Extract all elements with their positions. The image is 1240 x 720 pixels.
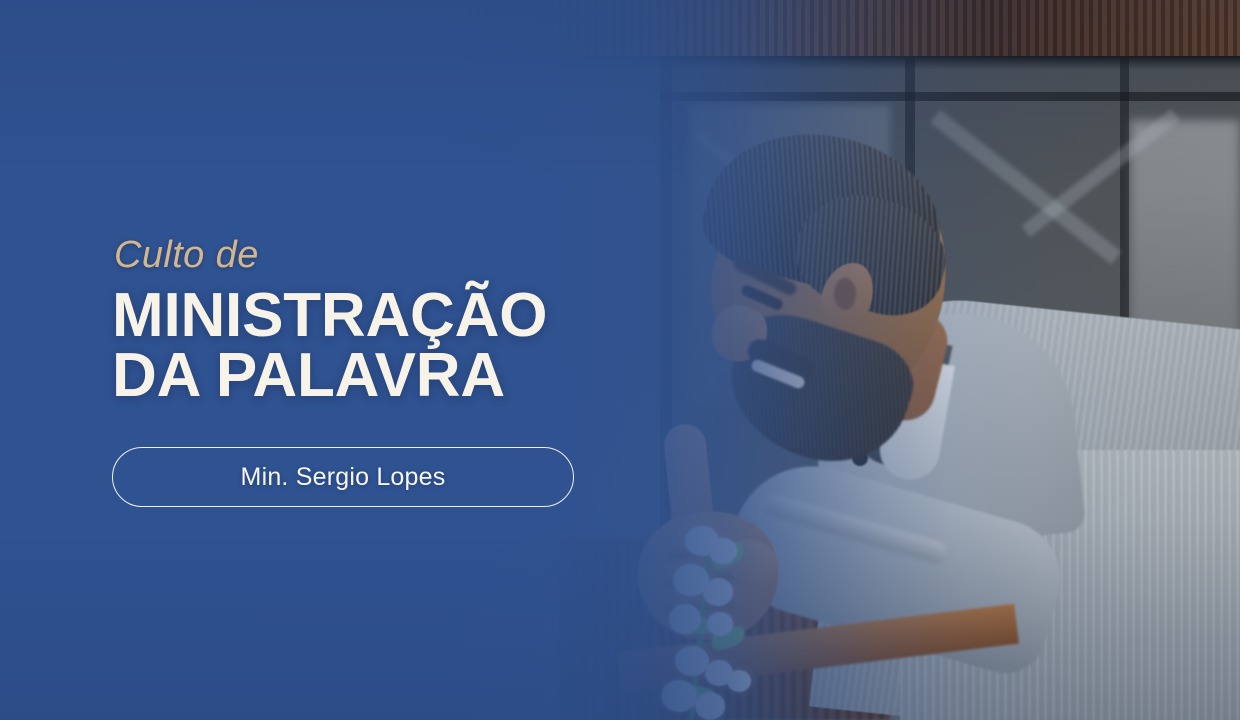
banner-text-block: Culto de MINISTRAÇÃO DA PALAVRA Min. Ser…: [112, 236, 732, 507]
headline-line-1: MINISTRAÇÃO: [112, 281, 547, 350]
event-banner: Culto de MINISTRAÇÃO DA PALAVRA Min. Ser…: [0, 0, 1240, 720]
headline-line-2: DA PALAVRA: [112, 346, 732, 406]
page-title: MINISTRAÇÃO DA PALAVRA: [112, 286, 732, 405]
eyebrow-text: Culto de: [114, 236, 732, 274]
speaker-name-button[interactable]: Min. Sergio Lopes: [112, 447, 574, 507]
